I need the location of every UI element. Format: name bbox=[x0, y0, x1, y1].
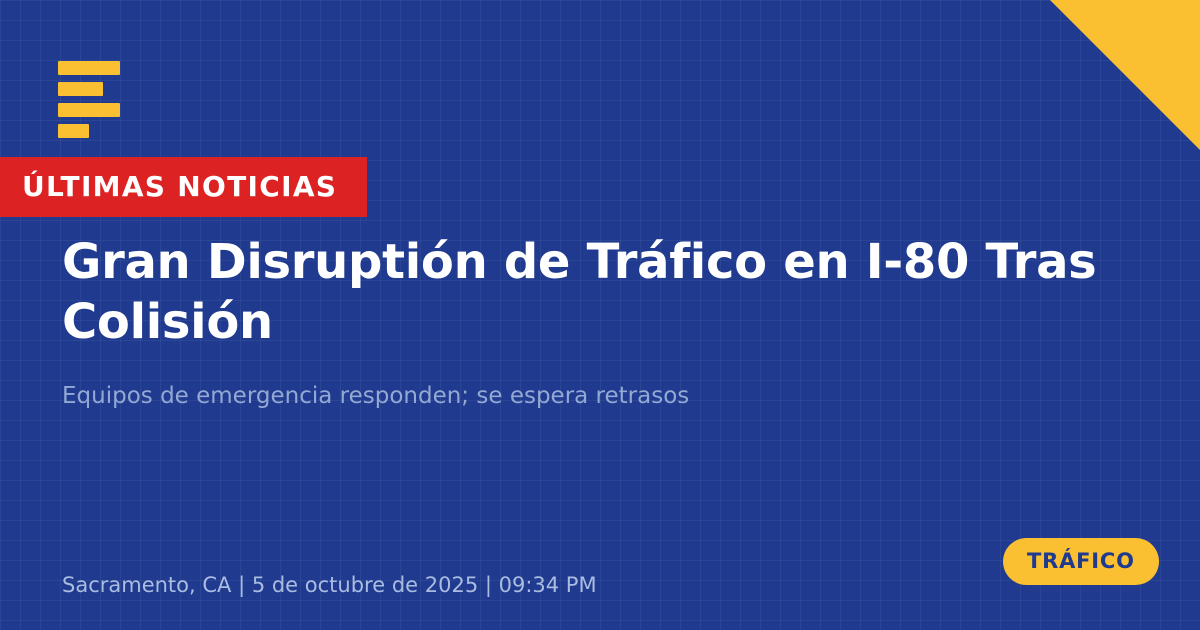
corner-accent-triangle-icon bbox=[1050, 0, 1200, 150]
subtitle: Equipos de emergencia responden; se espe… bbox=[62, 352, 1147, 412]
article-content: Gran Disruptión de Tráfico en I-80 Tras … bbox=[62, 233, 1147, 412]
breaking-news-label: ÚLTIMAS NOTICIAS bbox=[22, 173, 337, 201]
breaking-news-badge: ÚLTIMAS NOTICIAS bbox=[0, 157, 367, 217]
logo-bar-4 bbox=[58, 124, 89, 138]
logo-bar-2 bbox=[58, 82, 103, 96]
footer-meta: Sacramento, CA | 5 de octubre de 2025 | … bbox=[62, 575, 597, 596]
headline: Gran Disruptión de Tráfico en I-80 Tras … bbox=[62, 233, 1147, 352]
news-graphic-card: ÚLTIMAS NOTICIAS Gran Disruptión de Tráf… bbox=[0, 0, 1200, 630]
category-badge-label: TRÁFICO bbox=[1027, 551, 1135, 572]
logo-bar-3 bbox=[58, 103, 120, 117]
category-badge: TRÁFICO bbox=[1003, 538, 1159, 585]
logo-bar-1 bbox=[58, 61, 120, 75]
stacked-bars-logo bbox=[58, 61, 128, 138]
